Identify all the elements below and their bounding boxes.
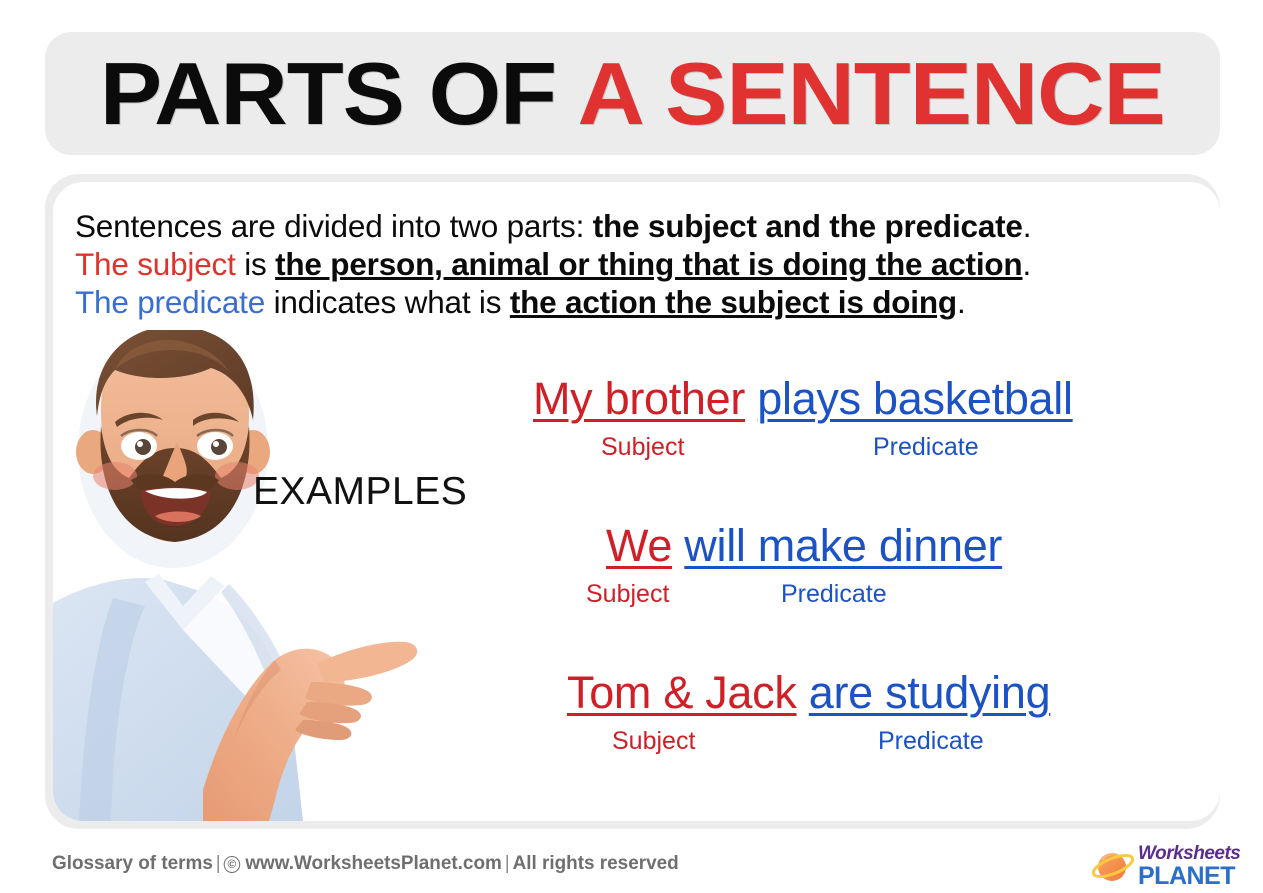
example-1-subject-label: Subject bbox=[601, 433, 684, 462]
footer-separator-2: | bbox=[502, 852, 513, 874]
example-1-predicate-label: Predicate bbox=[873, 433, 979, 462]
examples-label: EXAMPLES bbox=[253, 470, 467, 514]
page-title: PARTS OF A SENTENCE bbox=[100, 50, 1165, 138]
example-2-labels: Subject Predicate bbox=[606, 580, 1002, 614]
example-2-subject: We bbox=[606, 520, 672, 571]
intro-predicate-term: The predicate bbox=[75, 284, 265, 320]
intro-line1-bold: the subject and the predicate bbox=[593, 208, 1023, 244]
example-2-subject-label: Subject bbox=[586, 580, 669, 609]
logo-planet-text: PLANET bbox=[1138, 864, 1240, 889]
worksheets-planet-logo[interactable]: Worksheets PLANET bbox=[1092, 843, 1252, 889]
logo-worksheets-text: Worksheets bbox=[1138, 843, 1240, 864]
logo-wordmark: Worksheets PLANET bbox=[1138, 843, 1240, 889]
intro-line-1: Sentences are divided into two parts: th… bbox=[75, 207, 1195, 245]
page-title-black-part: PARTS OF bbox=[100, 44, 556, 143]
footer-website[interactable]: www.WorksheetsPlanet.com bbox=[245, 852, 501, 874]
title-banner: PARTS OF A SENTENCE bbox=[45, 32, 1220, 155]
intro-line1-period: . bbox=[1023, 208, 1032, 244]
intro-line2-mid: is bbox=[236, 246, 275, 282]
example-3-labels: Subject Predicate bbox=[567, 727, 1050, 761]
example-1-predicate: plays basketball bbox=[757, 373, 1072, 424]
example-2-sentence: We will make dinner bbox=[606, 521, 1002, 571]
intro-line-3: The predicate indicates what is the acti… bbox=[75, 283, 1195, 321]
example-3-subject-label: Subject bbox=[612, 727, 695, 756]
example-2-predicate: will make dinner bbox=[684, 520, 1002, 571]
planet-icon bbox=[1092, 846, 1136, 891]
footer-rights: All rights reserved bbox=[513, 852, 679, 874]
example-3-sentence: Tom & Jack are studying bbox=[567, 668, 1050, 718]
footer-separator-1: | bbox=[213, 852, 224, 874]
intro-line-2: The subject is the person, animal or thi… bbox=[75, 245, 1195, 283]
copyright-icon: © bbox=[224, 856, 240, 873]
intro-subject-definition: the person, animal or thing that is doin… bbox=[275, 246, 1022, 282]
intro-line2-period: . bbox=[1022, 246, 1031, 282]
intro-line3-period: . bbox=[957, 284, 966, 320]
example-3-subject: Tom & Jack bbox=[567, 667, 797, 718]
example-1-sentence: My brother plays basketball bbox=[533, 374, 1073, 424]
page-title-red-part: A SENTENCE bbox=[578, 44, 1165, 143]
footer-credit: Glossary of terms|© www.WorksheetsPlanet… bbox=[52, 852, 679, 875]
intro-paragraph: Sentences are divided into two parts: th… bbox=[75, 207, 1195, 321]
intro-predicate-definition: the action the subject is doing bbox=[510, 284, 957, 320]
example-3-predicate-label: Predicate bbox=[878, 727, 984, 756]
example-row-2: We will make dinner Subject Predicate bbox=[606, 521, 1002, 614]
example-row-3: Tom & Jack are studying Subject Predicat… bbox=[567, 668, 1050, 761]
example-1-labels: Subject Predicate bbox=[533, 433, 1073, 467]
intro-line1-lead: Sentences are divided into two parts: bbox=[75, 208, 593, 244]
intro-subject-term: The subject bbox=[75, 246, 236, 282]
example-row-1: My brother plays basketball Subject Pred… bbox=[533, 374, 1073, 467]
example-1-subject: My brother bbox=[533, 373, 745, 424]
example-3-predicate: are studying bbox=[809, 667, 1051, 718]
example-2-predicate-label: Predicate bbox=[781, 580, 887, 609]
intro-line3-mid: indicates what is bbox=[265, 284, 510, 320]
bearded-man-pointing-illustration bbox=[53, 330, 453, 821]
footer-glossary-label: Glossary of terms bbox=[52, 852, 213, 874]
